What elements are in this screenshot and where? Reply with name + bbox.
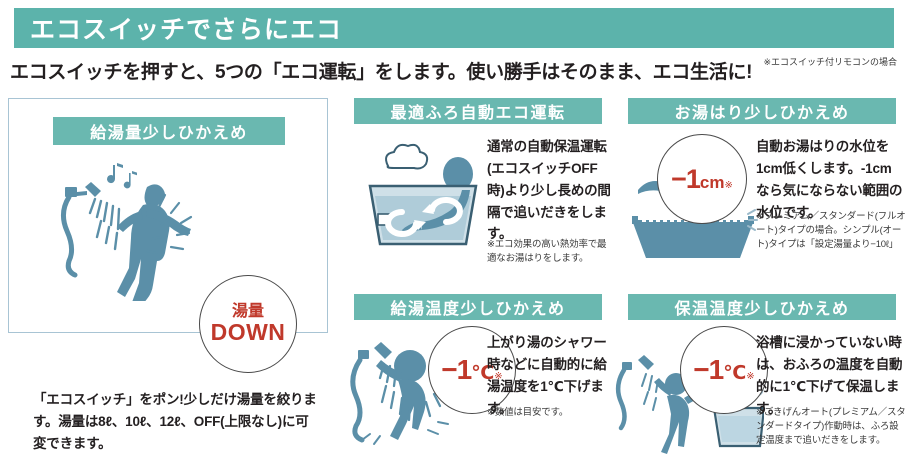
keep-note: ※ごきげんオート(プレミアム／スタンダードタイプ)作動時は、ふろ設定温度まで追い… [756,406,906,447]
lead-text: エコスイッチを押すと、5つの「エコ運転」をします。使い勝手はそのまま、エコ生活に… [10,57,752,84]
badge-asterisk: ※ [746,371,754,382]
badge-unit: cm [700,173,725,193]
keep-minus-1c-badge: −1 ℃ ※ [680,326,768,414]
person-shower-icon [51,151,201,301]
fill-note: ※プレミアム／スタンダード(フルオート)タイプの場合。シンプル(オート)タイプは… [756,210,906,251]
bathtub-circulation-icon [358,140,488,256]
panel-supply-temperature: 給湯温度少しひかえめ [340,294,612,459]
badge-line-2: DOWN [211,320,286,345]
autobath-note: ※エコ効果の高い熱効率で最適なお湯はりをします。 [487,238,615,266]
page-title-bar: エコスイッチでさらにエコ [14,8,894,48]
autobath-description: 通常の自動保温運転(エコスイッチOFF時)より少し長めの間隔で追いだきをします。 [487,136,612,245]
panel-hot-water-fill: お湯はり少しひかえめ [622,98,902,288]
badge-line-1: 湯量 [232,303,264,321]
panel-fill-heading: お湯はり少しひかえめ [628,98,896,124]
hotwater-description: 「エコスイッチ」をポン!少しだけ湯量を絞ります。湯量は8ℓ、10ℓ、12ℓ、OF… [33,389,318,455]
eco-switch-infographic: エコスイッチでさらにエコ エコスイッチを押すと、5つの「エコ運転」をします。使い… [0,0,909,461]
panel-keep-warm-temperature: 保温温度少しひかえめ [622,294,902,461]
hotwater-down-badge: 湯量 DOWN [199,275,297,373]
badge-unit: ℃ [723,362,746,385]
panel-hotwater-volume: 給湯量少しひかえめ [8,98,328,333]
badge-number: −1 [693,354,723,386]
panel-hotwater-heading: 給湯量少しひかえめ [53,117,285,145]
temp-note: ※数値は目安です。 [487,406,613,420]
panel-temp-heading: 給湯温度少しひかえめ [354,294,602,320]
badge-number: −1 [441,354,471,386]
panel-keep-heading: 保温温度少しひかえめ [628,294,896,320]
panel-auto-bath-eco: 最適ふろ自動エコ運転 通常の自動保温運転(エ [340,98,612,284]
panel-autobath-heading: 最適ふろ自動エコ運転 [354,98,602,124]
badge-asterisk: ※ [724,180,732,191]
badge-number: −1 [671,164,700,195]
page-title: エコスイッチでさらにエコ [14,10,342,46]
lead-footnote: ※エコスイッチ付リモコンの場合 [763,55,897,68]
fill-minus-1cm-badge: −1 cm ※ [657,134,747,224]
